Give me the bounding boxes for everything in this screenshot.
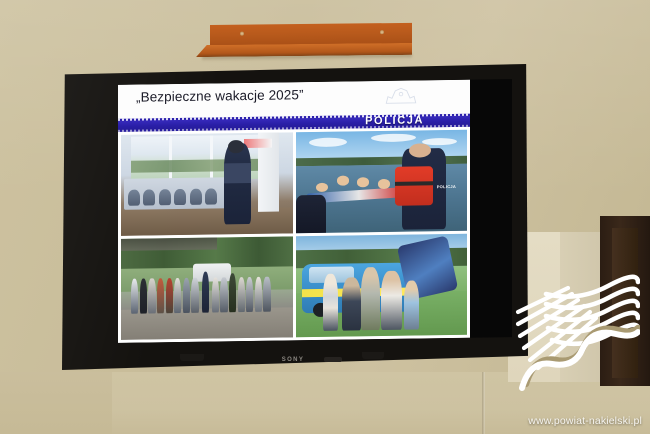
photo3-child — [140, 279, 147, 313]
photo2-life-vest — [395, 167, 433, 206]
photo2-swimmer — [337, 176, 349, 185]
photo3-child — [220, 278, 227, 312]
photo1-child — [205, 188, 217, 204]
room-scene: „Bezpieczne wakacje 2025” POLICJA — [0, 0, 650, 434]
slide-photo-top-left — [121, 132, 293, 236]
photo4-child — [361, 267, 380, 330]
wall-seam — [482, 372, 485, 434]
shelf-screw-left — [240, 32, 244, 36]
photo3-child — [255, 277, 262, 311]
photo3-canopy — [121, 237, 217, 251]
photo2-policja-patch: POLICJA — [433, 182, 460, 190]
slide-photo-top-right: POLICJA — [296, 130, 468, 234]
wooden-wall-shelf — [196, 23, 412, 57]
photo4-child — [323, 274, 338, 331]
photo3-police-officer — [229, 274, 236, 312]
slide-title: „Bezpieczne wakacje 2025” — [136, 87, 304, 104]
slide-header: „Bezpieczne wakacje 2025” — [118, 80, 470, 119]
photo1-officer-vest — [224, 163, 251, 184]
photo2-foreground-figure — [296, 194, 327, 233]
photo3-child — [131, 279, 138, 313]
photo3-child — [246, 277, 253, 311]
photo1-child — [190, 188, 202, 204]
photo3-child — [191, 278, 198, 312]
photo4-police-officer — [342, 278, 361, 331]
photo1-child — [128, 189, 140, 205]
photo1-mullion-a — [169, 136, 172, 180]
photo3-child — [148, 279, 155, 313]
wall-mounted-television[interactable]: „Bezpieczne wakacje 2025” POLICJA — [62, 64, 528, 370]
watermark-url: www.powiat-nakielski.pl — [528, 415, 642, 427]
photo1-mullion-b — [210, 136, 213, 180]
photo1-child — [143, 189, 155, 205]
slide-black-margin — [470, 79, 512, 338]
photo4-adult — [381, 271, 402, 330]
powiat-nakielski-wave-logo — [512, 272, 640, 394]
photo2-swimmer — [357, 178, 369, 187]
tv-mount-bracket-right — [362, 352, 384, 359]
presentation-slide: „Bezpieczne wakacje 2025” POLICJA — [118, 80, 470, 343]
photo3-child — [263, 277, 270, 311]
tv-screen[interactable]: „Bezpieczne wakacje 2025” POLICJA — [118, 79, 512, 343]
photo3-child — [238, 277, 245, 311]
photo2-swimmer — [316, 182, 328, 191]
photo1-flag — [244, 139, 271, 148]
photo3-child — [157, 279, 164, 313]
photo3-child — [166, 279, 173, 313]
photo1-officer-head — [228, 140, 243, 153]
photo3-child — [212, 278, 219, 312]
tv-mount-bracket-left — [180, 354, 204, 361]
slide-photo-bottom-left — [121, 236, 293, 340]
photo1-child — [174, 188, 186, 204]
shelf-screw-right — [380, 30, 384, 34]
wall-lower-left-section — [0, 372, 112, 434]
photo3-child — [174, 278, 181, 312]
photo2-swimmer — [378, 179, 390, 188]
tv-ir-sensor — [324, 357, 342, 362]
photo2-vest-strap — [395, 181, 433, 186]
police-star-badge-icon — [384, 86, 418, 105]
police-banner-label: POLICJA — [365, 114, 424, 128]
tv-brand-logo: SONY — [267, 355, 319, 364]
photo3-child — [183, 278, 190, 312]
photo3-police-officer — [202, 272, 209, 312]
photo4-child — [404, 281, 419, 330]
slide-photo-grid: POLICJA — [118, 127, 470, 343]
slide-photo-bottom-right — [296, 234, 468, 338]
photo1-child — [159, 189, 171, 205]
